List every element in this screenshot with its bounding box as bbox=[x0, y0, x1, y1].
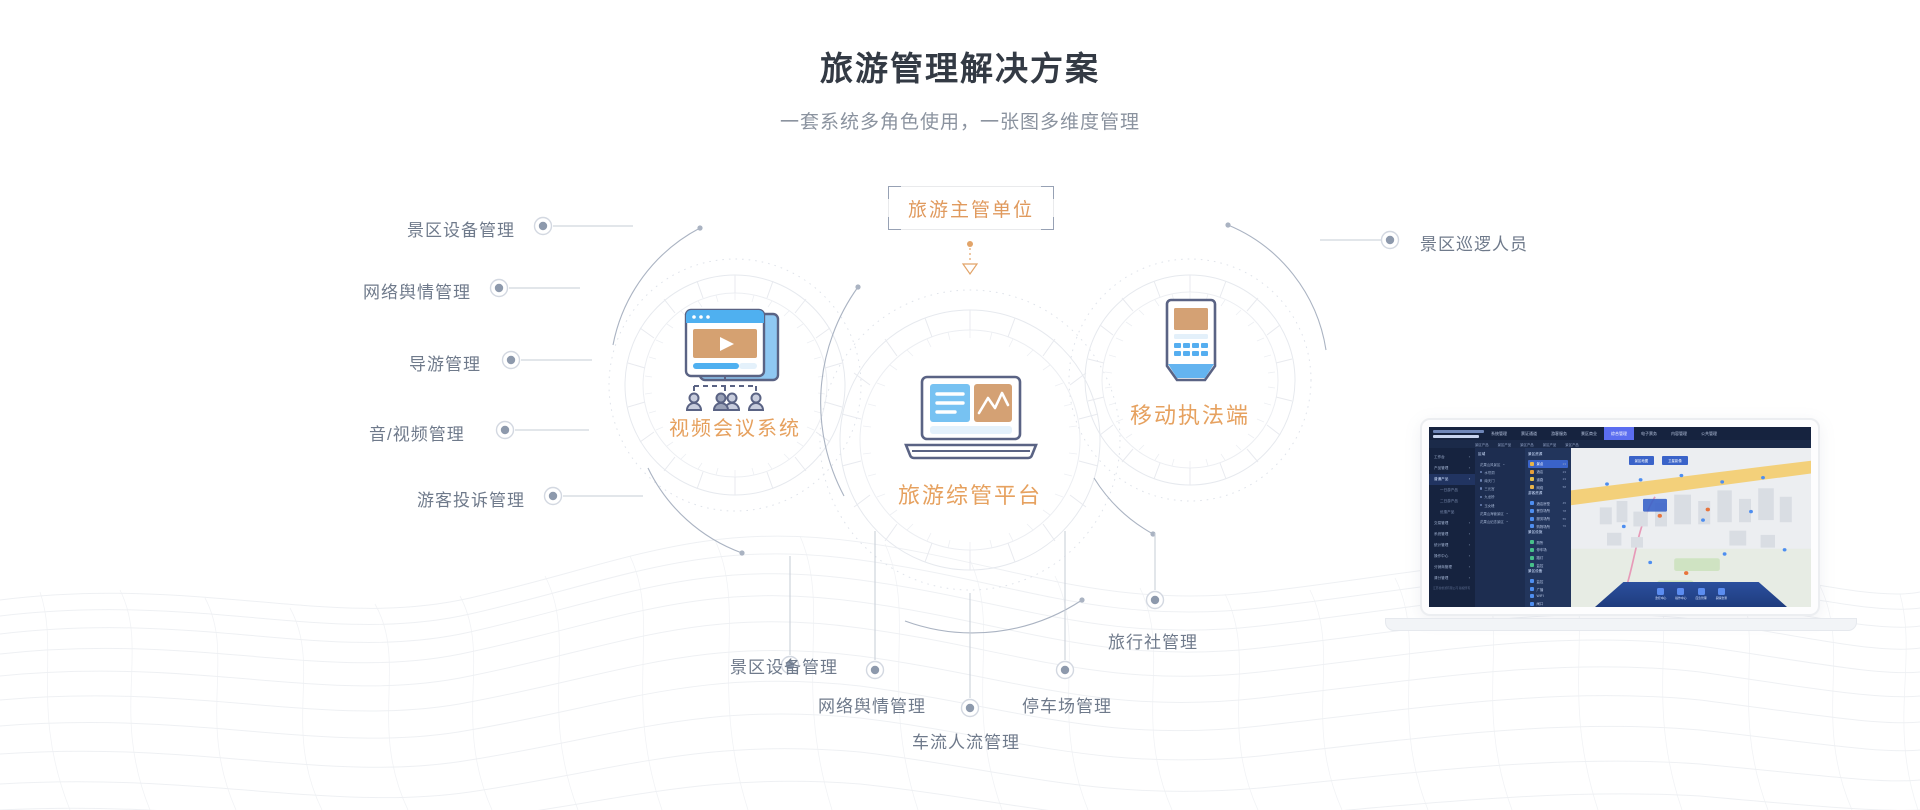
chevron-down-icon-6: ⌄ bbox=[1506, 511, 1509, 515]
tree-item-0[interactable]: 花果山风景区⌄ bbox=[1478, 460, 1522, 468]
layer-icon-2-2 bbox=[1530, 556, 1534, 560]
layer-count-1-0: 45 bbox=[1563, 501, 1566, 505]
layer-label-1-1: 餐饮场所 bbox=[1537, 508, 1551, 513]
chevron-right-icon-2: › bbox=[1469, 477, 1470, 482]
layer-label-1-2: 服务场所 bbox=[1537, 516, 1551, 521]
app-tabbar: 景区产品景区产品景区产品景区产品景区产品 bbox=[1429, 440, 1811, 448]
layer-group-2: 景区设施 bbox=[1528, 530, 1568, 535]
map-dock-item-1[interactable]: 操作中心 bbox=[1675, 588, 1686, 600]
layer-label-2-2: 路灯 bbox=[1537, 555, 1544, 560]
tree-item-label-4: 九龙桥 bbox=[1484, 494, 1494, 499]
map-dock-item-3[interactable]: 舆情监测 bbox=[1716, 588, 1727, 600]
layer-group-1: 游客资源 bbox=[1528, 491, 1568, 496]
app-logo bbox=[1429, 427, 1484, 440]
corner-bracket-br bbox=[1041, 217, 1054, 230]
layer-icon-0-1 bbox=[1530, 470, 1534, 474]
tab-item-3[interactable]: 景区产品 bbox=[1543, 442, 1557, 447]
layer-label-0-3: 网络 bbox=[1537, 485, 1544, 490]
sidebar-item-9[interactable]: 操作中心› bbox=[1429, 551, 1475, 562]
corner-bracket-tl bbox=[888, 186, 901, 199]
layer-icon-2-0 bbox=[1530, 540, 1534, 544]
tree-item-label-0: 花果山风景区 bbox=[1480, 462, 1500, 467]
node-left-2[interactable]: 导游管理 bbox=[409, 350, 481, 375]
layer-item-3-2[interactable]: WIFI bbox=[1528, 593, 1568, 600]
layer-icon-0-2 bbox=[1530, 477, 1534, 481]
laptop-base bbox=[1385, 618, 1857, 631]
topnav-item-7[interactable]: 公共管理 bbox=[1694, 431, 1724, 437]
corner-bracket-bl bbox=[888, 217, 901, 230]
tree-bullet-5 bbox=[1480, 504, 1482, 506]
sidebar-item-1[interactable]: 产品管理› bbox=[1429, 463, 1475, 474]
layer-item-0-2[interactable]: 道路23 bbox=[1528, 476, 1568, 484]
layer-label-2-3: 监控 bbox=[1537, 563, 1544, 568]
authority-box: 旅游主管单位 bbox=[888, 186, 1054, 230]
layer-item-0-1[interactable]: 酒店23 bbox=[1528, 468, 1568, 476]
page-header: 旅游管理解决方案 一套系统多角色使用，一张图多维度管理 bbox=[0, 0, 1920, 134]
layer-icon-2-3 bbox=[1530, 563, 1534, 567]
layer-label-0-1: 酒店 bbox=[1537, 469, 1544, 474]
layer-icon-3-0 bbox=[1530, 579, 1534, 583]
layer-item-1-0[interactable]: 酒店房型45 bbox=[1528, 499, 1568, 507]
sidebar-item-10[interactable]: 分销商管理› bbox=[1429, 562, 1475, 573]
map-dock-label-2: 应急管理 bbox=[1696, 596, 1707, 600]
sidebar-item-label-11: 清分管理 bbox=[1434, 576, 1448, 581]
layer-icon-2-1 bbox=[1530, 548, 1534, 552]
app-topnav: 系统管理票证通道游客服务景区商业综合管理电子票务内容管理公共管理 bbox=[1429, 427, 1811, 440]
sidebar-item-4[interactable]: 二日游产品 bbox=[1429, 496, 1475, 507]
sidebar-footer: 江苏省旅游有限公司 版权所有 bbox=[1429, 584, 1475, 592]
logo-line-2 bbox=[1433, 435, 1479, 438]
tree-bullet-1 bbox=[1480, 471, 1482, 473]
layer-icon-0-0 bbox=[1530, 462, 1534, 466]
layer-group-0: 景区资源 bbox=[1528, 452, 1568, 457]
sidebar-item-label-9: 操作中心 bbox=[1434, 554, 1448, 559]
hub-label-tourism-platform: 旅游综管平台 bbox=[870, 478, 1070, 510]
topnav-item-0[interactable]: 系统管理 bbox=[1484, 431, 1514, 437]
layer-label-2-0: 厕所 bbox=[1537, 540, 1544, 545]
map-dock-item-0[interactable]: 监控中心 bbox=[1655, 588, 1666, 600]
map-dock-icon-2 bbox=[1698, 588, 1705, 595]
node-bottom-3[interactable]: 停车场管理 bbox=[1022, 692, 1112, 717]
page-subtitle: 一套系统多角色使用，一张图多维度管理 bbox=[0, 107, 1920, 134]
layer-label-0-2: 道路 bbox=[1537, 477, 1544, 482]
tree-bullet-3 bbox=[1480, 487, 1482, 489]
node-bottom-0[interactable]: 景区设备管理 bbox=[730, 653, 838, 678]
sidebar-item-label-4: 二日游产品 bbox=[1440, 499, 1458, 504]
layer-count-0-2: 23 bbox=[1563, 477, 1566, 481]
sidebar-item-label-2: 普通产品 bbox=[1434, 477, 1448, 482]
hub-label-video-conference: 视频会议系统 bbox=[635, 412, 835, 441]
layer-icon-3-2 bbox=[1530, 594, 1534, 598]
chevron-right-icon-7: › bbox=[1469, 532, 1470, 537]
node-left-3[interactable]: 音/视频管理 bbox=[369, 420, 465, 445]
map-dock-icon-0 bbox=[1657, 588, 1664, 595]
layer-item-2-2[interactable]: 路灯 bbox=[1528, 554, 1568, 562]
tree-bullet-4 bbox=[1480, 496, 1482, 498]
app-body: 工作台›产品管理›普通产品›一日游产品二日游产品优惠产品交易管理›系统管理›统计… bbox=[1429, 448, 1811, 607]
layer-label-0-0: 景点 bbox=[1537, 461, 1544, 466]
chevron-right-icon-6: › bbox=[1469, 521, 1470, 526]
layer-icon-3-3 bbox=[1530, 602, 1534, 606]
sidebar-item-label-6: 交易管理 bbox=[1434, 521, 1448, 526]
tree-bullet-2 bbox=[1480, 479, 1482, 481]
node-right-0[interactable]: 景区巡逻人员 bbox=[1420, 230, 1528, 255]
layer-icon-3-1 bbox=[1530, 587, 1534, 591]
node-left-0[interactable]: 景区设备管理 bbox=[407, 216, 515, 241]
map-dock-label-0: 监控中心 bbox=[1655, 596, 1666, 600]
tree-item-4[interactable]: 九龙桥 bbox=[1478, 493, 1522, 501]
chevron-right-icon-11: › bbox=[1469, 576, 1470, 581]
sidebar-item-6[interactable]: 交易管理› bbox=[1429, 518, 1475, 529]
logo-line-1 bbox=[1433, 430, 1484, 433]
sidebar-item-5[interactable]: 优惠产品 bbox=[1429, 507, 1475, 518]
tree-item-1[interactable]: 水帘洞 bbox=[1478, 468, 1522, 476]
chevron-right-icon-0: › bbox=[1469, 455, 1470, 460]
map-dock-icon-1 bbox=[1677, 588, 1684, 595]
layer-label-3-1: 广播 bbox=[1537, 587, 1544, 592]
chevron-down-icon-0: ⌄ bbox=[1502, 462, 1505, 466]
tree-item-label-7: 花果山纪念景区 bbox=[1480, 519, 1504, 524]
layer-count-0-1: 23 bbox=[1563, 470, 1566, 474]
layer-icon-1-3 bbox=[1530, 524, 1534, 528]
topnav-item-2[interactable]: 游客服务 bbox=[1544, 431, 1574, 437]
map-button-1[interactable]: 卫星影像 bbox=[1662, 456, 1688, 465]
layer-icon-0-3 bbox=[1530, 485, 1534, 489]
sidebar-item-2[interactable]: 普通产品› bbox=[1429, 474, 1475, 485]
sidebar-item-11[interactable]: 清分管理› bbox=[1429, 573, 1475, 584]
topnav-item-1[interactable]: 票证通道 bbox=[1514, 431, 1544, 437]
layer-icon-1-2 bbox=[1530, 517, 1534, 521]
region-tree-header: 区域 bbox=[1478, 452, 1522, 457]
sidebar-item-label-7: 系统管理 bbox=[1434, 532, 1448, 537]
tab-item-4[interactable]: 景区产品 bbox=[1565, 442, 1579, 447]
region-tree-list: 花果山风景区⌄水帘洞南天门三元宫九龙桥玉女峰花果山海管景区⌄花果山纪念景区⌄ bbox=[1478, 460, 1522, 526]
map-dock-label-3: 舆情监测 bbox=[1716, 596, 1727, 600]
layer-item-2-0[interactable]: 厕所 bbox=[1528, 538, 1568, 546]
layer-panel: 景区资源景点23酒店23道路23网络58游客资源酒店房型45餐饮场所78服务场所… bbox=[1525, 448, 1571, 607]
tree-item-label-6: 花果山海管景区 bbox=[1480, 511, 1504, 516]
layer-count-0-3: 58 bbox=[1563, 485, 1566, 489]
map-dock-label-1: 操作中心 bbox=[1675, 596, 1686, 600]
layer-label-2-1: 停车场 bbox=[1537, 547, 1547, 552]
sidebar-item-label-3: 一日游产品 bbox=[1440, 488, 1458, 493]
map-dock-icon-3 bbox=[1718, 588, 1725, 595]
layer-label-1-3: 购物场所 bbox=[1537, 524, 1551, 529]
layer-group-3: 景区设备 bbox=[1528, 569, 1568, 574]
topnav-item-3[interactable]: 景区商业 bbox=[1574, 431, 1604, 437]
sidebar-item-label-1: 产品管理 bbox=[1434, 466, 1448, 471]
topnav-item-6[interactable]: 内容管理 bbox=[1664, 431, 1694, 437]
tab-item-0[interactable]: 景区产品 bbox=[1475, 442, 1489, 447]
tree-item-6[interactable]: 花果山海管景区⌄ bbox=[1478, 509, 1522, 517]
laptop-screen: 系统管理票证通道游客服务景区商业综合管理电子票务内容管理公共管理 景区产品景区产… bbox=[1429, 427, 1811, 607]
sidebar-item-label-8: 统计管理 bbox=[1434, 543, 1448, 548]
chevron-right-icon-9: › bbox=[1469, 554, 1470, 559]
topnav-item-4[interactable]: 综合管理 bbox=[1604, 427, 1634, 440]
layer-item-3-3[interactable]: 闸口 bbox=[1528, 600, 1568, 607]
map-view[interactable]: 景区地图卫星影像 监控中心操作中心应急管理舆情监测 bbox=[1571, 448, 1811, 607]
sidebar-item-7[interactable]: 系统管理› bbox=[1429, 529, 1475, 540]
authority-label: 旅游主管单位 bbox=[908, 195, 1034, 222]
layer-item-3-1[interactable]: 广播 bbox=[1528, 585, 1568, 593]
node-bottom-4[interactable]: 旅行社管理 bbox=[1108, 628, 1198, 653]
layer-item-0-0[interactable]: 景点23 bbox=[1528, 460, 1568, 468]
layer-label-3-0: 监控 bbox=[1537, 579, 1544, 584]
map-dock-item-2[interactable]: 应急管理 bbox=[1696, 588, 1707, 600]
tab-item-1[interactable]: 景区产品 bbox=[1498, 442, 1512, 447]
sidebar-item-label-10: 分销商管理 bbox=[1434, 565, 1452, 570]
node-left-4[interactable]: 游客投诉管理 bbox=[417, 486, 525, 511]
layer-count-0-0: 23 bbox=[1563, 462, 1566, 466]
tree-item-7[interactable]: 花果山纪念景区⌄ bbox=[1478, 517, 1522, 525]
page-title: 旅游管理解决方案 bbox=[0, 42, 1920, 90]
layer-item-0-3[interactable]: 网络58 bbox=[1528, 483, 1568, 491]
layer-label-3-3: 闸口 bbox=[1537, 601, 1544, 606]
sidebar-item-8[interactable]: 统计管理› bbox=[1429, 540, 1475, 551]
tree-item-label-3: 三元宫 bbox=[1484, 486, 1494, 491]
layer-icon-1-1 bbox=[1530, 509, 1534, 513]
chevron-right-icon-10: › bbox=[1469, 565, 1470, 570]
tree-item-2[interactable]: 南天门 bbox=[1478, 476, 1522, 484]
chevron-down-icon-7: ⌄ bbox=[1506, 519, 1509, 523]
layer-icon-1-0 bbox=[1530, 501, 1534, 505]
app-sidebar: 工作台›产品管理›普通产品›一日游产品二日游产品优惠产品交易管理›系统管理›统计… bbox=[1429, 448, 1475, 607]
chevron-right-icon-8: › bbox=[1469, 543, 1470, 548]
laptop-mockup: 系统管理票证通道游客服务景区商业综合管理电子票务内容管理公共管理 景区产品景区产… bbox=[1420, 418, 1857, 631]
chevron-right-icon-1: › bbox=[1469, 466, 1470, 471]
map-buttons[interactable]: 景区地图卫星影像 bbox=[1629, 456, 1688, 465]
sidebar-item-3[interactable]: 一日游产品 bbox=[1429, 485, 1475, 496]
hub-label-mobile-enforcement: 移动执法端 bbox=[1100, 398, 1280, 430]
sidebar-item-label-5: 优惠产品 bbox=[1440, 510, 1454, 515]
sidebar-item-label-0: 工作台 bbox=[1434, 455, 1445, 460]
tree-item-label-5: 玉女峰 bbox=[1484, 503, 1494, 508]
sidebar-item-0[interactable]: 工作台› bbox=[1429, 452, 1475, 463]
video-window-icon bbox=[672, 308, 798, 419]
laptop-lid: 系统管理票证通道游客服务景区商业综合管理电子票务内容管理公共管理 景区产品景区产… bbox=[1420, 418, 1820, 616]
topnav-items: 系统管理票证通道游客服务景区商业综合管理电子票务内容管理公共管理 bbox=[1484, 427, 1724, 440]
tree-item-3[interactable]: 三元宫 bbox=[1478, 485, 1522, 493]
layer-item-1-2[interactable]: 服务场所55 bbox=[1528, 515, 1568, 523]
node-left-1[interactable]: 网络舆情管理 bbox=[363, 278, 471, 303]
node-bottom-2[interactable]: 车流人流管理 bbox=[912, 728, 1020, 753]
tree-item-label-2: 南天门 bbox=[1484, 478, 1494, 483]
layer-item-2-1[interactable]: 停车场 bbox=[1528, 546, 1568, 554]
layer-label-3-2: WIFI bbox=[1537, 594, 1544, 598]
tab-item-2[interactable]: 景区产品 bbox=[1520, 442, 1534, 447]
tree-item-5[interactable]: 玉女峰 bbox=[1478, 501, 1522, 509]
node-bottom-1[interactable]: 网络舆情管理 bbox=[818, 692, 926, 717]
region-tree-panel: 区域 花果山风景区⌄水帘洞南天门三元宫九龙桥玉女峰花果山海管景区⌄花果山纪念景区… bbox=[1475, 448, 1525, 607]
layer-item-3-0[interactable]: 监控 bbox=[1528, 577, 1568, 585]
layer-item-1-1[interactable]: 餐饮场所78 bbox=[1528, 507, 1568, 515]
laptop-dashboard-icon bbox=[898, 375, 1044, 472]
layer-count-1-3: 76 bbox=[1563, 524, 1566, 528]
tree-item-label-1: 水帘洞 bbox=[1484, 470, 1494, 475]
corner-bracket-tr bbox=[1041, 186, 1054, 199]
handheld-terminal-icon bbox=[1155, 298, 1227, 397]
map-button-0[interactable]: 景区地图 bbox=[1629, 456, 1655, 465]
layer-count-1-2: 55 bbox=[1563, 517, 1566, 521]
topnav-item-5[interactable]: 电子票务 bbox=[1634, 431, 1664, 437]
layer-count-1-1: 78 bbox=[1563, 509, 1566, 513]
layer-label-1-0: 酒店房型 bbox=[1537, 501, 1551, 506]
